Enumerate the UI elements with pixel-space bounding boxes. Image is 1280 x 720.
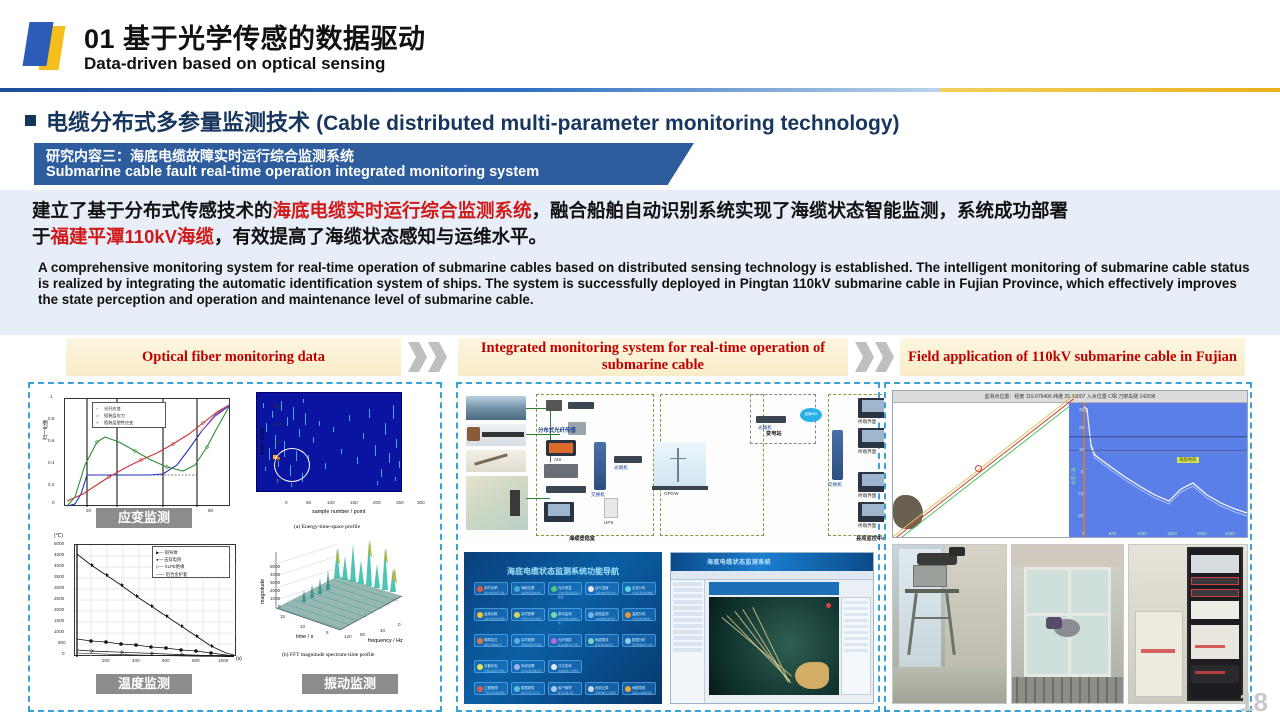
temp-xtick-400: 400 [132,658,140,663]
field-monitoring-window: 监测点位置：经度 119.676406 纬度 25.43007 入水位置 C相 … [892,390,1248,538]
topology-zone-label-center: 县局监控中心 [856,535,887,542]
tile-icon-12 [551,638,557,644]
viewer-info-panel [841,597,871,695]
temp-xtick-200: 200 [102,658,110,663]
dashboard-tile-19[interactable]: 数据报表 报表导出与打印 [511,682,545,695]
spec-ytick-50: 50 [276,478,281,483]
tile-icon-1 [514,586,520,592]
panel-field-application: 监测点位置：经度 119.676406 纬度 25.43007 入水位置 C相 … [884,382,1252,712]
fft-ztick-1000: 1000 [270,596,280,601]
tile-title-9: 温度分布 [632,611,646,616]
dashboard-tile-3[interactable]: 运行温度 海缆本体温度分布 [585,582,619,595]
tile-icon-13 [588,638,594,644]
tile-icon-7 [551,612,557,618]
dashboard-tile-20[interactable]: 用户管理 账号权限分配 [548,682,582,695]
topology-optical-terminal-1 [614,456,642,463]
topology-zone-label-landing: 海缆登陆室 [569,535,595,542]
depth-ytick-0: 0 [1081,469,1083,474]
flow-banner-field-application: Field application of 110kV submarine cab… [900,338,1245,376]
viewer-tree-item[interactable] [673,624,702,628]
tile-title-16: 系统设置 [521,663,535,668]
temp-ytick-2500: 2500 [54,596,64,601]
dashboard-tile-9[interactable]: 温度分布 全线温度场曲线 [622,608,656,621]
topology-cloud-mis: 省局MIS [800,408,822,422]
field-photo-monitoring-camera [892,544,1007,704]
tile-icon-11 [514,638,520,644]
fft-ytick-10: 10 [300,624,305,629]
satellite-cable-route-image [893,403,1069,537]
viewer-tree-item[interactable] [673,594,702,598]
viewer-tree-item[interactable] [673,600,702,604]
topology-switch-1 [594,442,606,490]
viewer-tree-item[interactable] [673,636,702,640]
fft-ztick-2000: 2000 [270,588,280,593]
tile-title-0: 实时功率 [484,585,498,590]
tile-title-17: 日志查询 [558,663,572,668]
caption-strain-monitoring: 应变监测 [96,508,192,528]
depth-ytick-m20: -20 [1077,513,1083,518]
depth-xtick-2000: 2000 [1197,531,1207,536]
spec-xlabel: sample number / point [312,509,365,515]
temp-ytick-5000: 5000 [54,541,64,546]
tile-sub-2: 分布式温度场实时曲线 [558,591,581,599]
tile-icon-8 [588,612,594,618]
viewer-title-bar: 海底电缆状态监测系统 [671,553,873,571]
tile-sub-17: 系统操作日志检索 [558,669,579,673]
strain-legend-item-2: 铠装层塑性应变 [104,420,133,425]
depth-xtick-0: 0 [1082,531,1084,536]
monitoring-viewer-window[interactable]: 海底电缆状态监测系统 [670,552,874,704]
topology-link-3 [526,498,550,499]
tile-icon-22 [625,686,631,692]
dashboard-tile-12[interactable]: 光纤测振 振动频谱实时分析 [548,634,582,647]
dashboard-tile-16[interactable]: 系统设置 用户权限参数设置 [511,660,545,673]
tile-sub-4: 全线应变监测数据 [632,591,653,595]
topology-dts-unit [546,440,576,456]
spec-xtick-50: 50 [306,500,311,505]
body-text-en: A comprehensive monitoring system for re… [38,260,1253,307]
spec-xtick-150: 150 [350,500,358,505]
tile-icon-6 [514,612,520,618]
tile-sub-8: AIS船舶轨迹监测 [595,617,615,621]
tile-icon-17 [551,664,557,670]
tile-title-1: 海缆位置 [521,585,535,590]
dashboard-title: 海底电缆状态监测系统功能导航 [464,566,662,577]
body-cn-highlight1: 海底电缆实时运行综合监测系统 [273,200,532,221]
tile-icon-18 [477,686,483,692]
topology-zone-label-substation: 变电站 [766,430,782,437]
tile-icon-3 [588,586,594,592]
spec-subcaption: (a) Energy-time-space profile [294,524,360,530]
temp-ytick-4000: 4000 [54,563,64,568]
depth-ytick-20: 20 [1079,425,1084,430]
tile-sub-16: 用户权限参数设置 [521,669,542,673]
tile-sub-12: 振动频谱实时分析 [558,643,579,647]
tile-title-19: 数据报表 [521,685,535,690]
section-bullet-icon [25,115,36,126]
tile-sub-6: 告警信息实时推送 [521,617,542,621]
tile-icon-0 [477,586,483,592]
topology-workstation-1 [544,464,578,478]
tile-title-6: 实时报警 [521,611,535,616]
viewer-tree-sidebar[interactable] [671,580,705,703]
system-topology-diagram: 分布式光纤传感 AIS 交换机 UPS 光端机 海缆登陆室 OPGW 光端机 变… [464,390,874,542]
spec-ytick-150: 150 [273,440,281,445]
chart-strain-monitoring: ○光纤应变 ◇铠装层应力 +铠装层塑性应变 1 0.8 0.6 0.4 0.2 … [40,392,240,527]
fft-ytick-5: 5 [326,630,329,635]
fft-ylabel: time / s [296,634,313,640]
depth-chart-tag: 海底地形 [1177,457,1199,463]
strain-ytick-1: 1 [50,394,53,399]
topology-label-ais: AIS [554,457,561,462]
tile-title-5: 运维台账 [484,611,498,616]
dashboard-tile-14[interactable]: 数据分析 历史数据统计分析 [622,634,656,647]
tile-icon-20 [551,686,557,692]
tile-sub-22: 海缆GIS地图浏览 [632,691,652,695]
tile-title-7: 振动监测 [558,611,572,616]
topology-opgw-image [654,442,706,488]
monitoring-point-marker [975,465,982,472]
fft-subcaption: (b) FFT magnitude spectrum-time profile [282,652,375,658]
tile-sub-19: 报表导出与打印 [521,691,539,695]
fft-ztick-0: 0 [278,604,281,609]
dashboard-tile-11[interactable]: 实时视频 现场视频监控画面 [511,634,545,647]
tile-icon-16 [514,664,520,670]
viewer-menu-bar[interactable] [671,571,873,580]
tile-title-21: 巡检记录 [595,685,609,690]
tile-icon-14 [625,638,631,644]
topology-label-switch-1: 交换机 [591,492,605,498]
fft-ytick-15: 15 [280,614,285,619]
temp-ytick-1000: 1000 [54,629,64,634]
tile-title-20: 用户管理 [558,685,572,690]
research-topic-ribbon: 研究内容三：海底电缆故障实时运行综合监测系统 Submarine cable f… [34,143,694,185]
tile-title-8: 船舶监测 [595,611,609,616]
topology-label-terminal-4: 终端界面 [858,523,876,529]
topology-opgw-bar [652,486,708,490]
topology-label-switch-2: 交换机 [828,482,842,488]
temp-legend-item-1: 击穿电阻 [164,557,181,562]
viewer-tree-item[interactable] [673,582,702,586]
description-band: 建立了基于分布式传感技术的海底电缆实时运行综合监测系统，融合船舶自动识别系统实现… [0,190,1280,335]
tile-title-3: 运行温度 [595,585,609,590]
flow-banner-optical-fiber-data: Optical fiber monitoring data [66,338,401,376]
topology-label-opgw: OPGW [664,491,679,496]
ribbon-label-en: Submarine cable fault real-time operatio… [46,164,539,180]
spec-ylabel: time / 0.02s [260,428,266,454]
topology-camera-device [546,400,562,411]
topology-monitor-1 [544,502,574,522]
tile-title-14: 数据分析 [632,637,646,642]
temp-ytick-500: 500 [58,640,66,645]
section-title: 电缆分布式多参量监测技术 (Cable distributed multi-pa… [46,105,900,137]
temp-ytick-0: 0 [62,651,65,656]
dashboard-tile-8[interactable]: 船舶监测 AIS船舶轨迹监测 [585,608,619,621]
dashboard-tile-7[interactable]: 振动监测 分布式振动事件识别 [548,608,582,621]
fft-zlabel: magnitude [260,579,266,604]
topology-label-terminal-2: 终端界面 [858,449,876,455]
spec-ytick-200: 200 [273,422,281,427]
topology-label-ups: UPS [604,520,613,525]
strain-ytick-02: 0.2 [48,482,54,487]
dashboard-tile-21[interactable]: 巡检记录 现场巡检记录管理 [585,682,619,695]
depth-profile-svg [1069,403,1248,538]
section-title-en: (Cable distributed multi-parameter monit… [316,112,899,135]
spec-xtick-250: 250 [396,500,404,505]
tile-icon-19 [514,686,520,692]
depth-ytick-m10: -10 [1077,491,1083,496]
tile-title-13: 电缆载流 [595,637,609,642]
strain-ytick-0: 0 [52,500,55,505]
viewer-tree-item[interactable] [673,642,702,646]
depth-xtick-500: 500 [1109,531,1116,536]
topology-label-distributed-sensing: 分布式光纤传感 [538,426,576,434]
header-rule-blue [0,88,940,92]
topology-ups [604,498,618,518]
fft-xtick-40: 40 [380,628,385,633]
spectrogram-highlight-circle [274,448,310,482]
fft-xtick-0: 0 [398,622,401,627]
panel-integrated-system: 分布式光纤传感 AIS 交换机 UPS 光端机 海缆登陆室 OPGW 光端机 变… [456,382,880,712]
fft-xtick-80: 80 [360,632,365,637]
tile-title-22: 地图导航 [632,685,646,690]
dashboard-tile-13[interactable]: 电缆载流 载流量动态评估 [585,634,619,647]
viewer-tree-item[interactable] [673,588,702,592]
viewer-tree-item[interactable] [673,630,702,634]
temp-xtick-600: 600 [162,658,170,663]
topology-optical-terminal-2 [756,416,786,423]
dashboard-tile-17[interactable]: 日志查询 系统操作日志检索 [548,660,582,673]
topology-server-1 [568,402,594,409]
fft-plot-area [256,534,402,638]
cable-route-line-yellow [892,393,1076,538]
tile-sub-1: 海缆敷设路由坐标 [521,591,542,595]
logo-icon [20,20,74,72]
topology-sensor-photo [466,450,526,472]
tile-icon-5 [477,612,483,618]
temp-legend-item-3: 铝合金护套 [166,572,187,577]
viewer-tree-item[interactable] [673,606,702,610]
fft-xlabel: frequency / Hz [368,638,403,644]
topology-label-terminal-3: 终端界面 [858,493,876,499]
spec-xtick-300: 300 [417,500,425,505]
page-number: 18 [1239,687,1268,718]
temp-ytick-4500: 4500 [54,552,64,557]
depth-ytick-10: 10 [1079,447,1084,452]
temp-xunit: (s) [236,656,242,662]
strain-legend: ○光纤应变 ◇铠装层应力 +铠装层塑性应变 [92,402,166,428]
viewer-tree-item[interactable] [673,612,702,616]
spec-xtick-100: 100 [327,500,335,505]
depth-xtick-1000: 1000 [1137,531,1147,536]
dashboard-tile-22[interactable]: 地图导航 海缆GIS地图浏览 [622,682,656,695]
header-rule-gold [940,88,1280,92]
temp-xtick-800: 800 [192,658,200,663]
depth-chart-ylabel: 水深 / 米 [1071,467,1077,485]
tile-sub-14: 历史数据统计分析 [632,643,653,647]
tile-sub-9: 全线温度场曲线 [632,617,650,621]
topology-label-optical-terminal-1: 光端机 [614,465,628,471]
temp-legend-item-2: XLPE绝缘 [165,564,185,569]
viewer-chart-map[interactable] [709,597,839,695]
topology-gis-map-photo [466,476,528,530]
tile-title-12: 光纤测振 [558,637,572,642]
ribbon-label-cn: 研究内容三：海底电缆故障实时运行综合监测系统 [46,146,354,166]
dashboard-tile-1[interactable]: 海缆位置 海缆敷设路由坐标 [511,582,545,595]
body-cn-seg2: ，融合船舶自动识别系统实现了海缆状态智能监测，系统成功部署 [532,200,1069,221]
tile-sub-5: 设备台账资料管理 [484,617,505,621]
caption-temperature-monitoring: 温度监测 [96,674,192,694]
tile-sub-18: 工程项目资料管理 [484,691,505,695]
tile-icon-21 [588,686,594,692]
tile-title-11: 实时视频 [521,637,535,642]
tile-icon-15 [477,664,483,670]
temp-ytick-1500: 1500 [54,618,64,623]
tile-sub-15: 监测设备运行状态 [484,669,505,673]
tile-sub-20: 账号权限分配 [558,691,574,695]
tile-title-4: 应变分布 [632,585,646,590]
chart-fft-magnitude-spectrum: 5000 4000 3000 2000 1000 0 15 10 5 120 8… [256,534,438,686]
dashboard-tile-4[interactable]: 应变分布 全线应变监测数据 [622,582,656,595]
slide-header: 01 基于光学传感的数据驱动 Data-driven based on opti… [0,0,1280,90]
body-text-cn: 建立了基于分布式传感技术的海底电缆实时运行综合监测系统，融合船舶自动识别系统实现… [32,198,1257,250]
topology-label-terminal-1: 终端界面 [858,419,876,425]
tile-icon-4 [625,586,631,592]
tile-title-18: 工程管理 [484,685,498,690]
topology-server-2 [546,486,586,493]
temp-legend-item-0: 铜导体 [165,550,178,555]
temperature-legend: ▶— 铜导体 ●— 击穿电阻 ▷— XLPE绝缘 —— 铝合金护套 [152,546,230,578]
dashboard-tile-0[interactable]: 实时功率 输出电流电压功率 [474,582,508,595]
fft-ztick-4000: 4000 [270,572,280,577]
temp-ytick-3500: 3500 [54,574,64,579]
dashboard-tile-6[interactable]: 实时报警 告警信息实时推送 [511,608,545,621]
chevron-right-icon-2 [855,339,901,375]
tile-sub-21: 现场巡检记录管理 [595,691,616,695]
tile-icon-9 [625,612,631,618]
viewer-brand-label: 海底电缆状态监测系统 [707,557,771,566]
panel-optical-fiber-data: ○光纤应变 ◇铠装层应力 +铠装层塑性应变 1 0.8 0.6 0.4 0.2 … [28,382,442,712]
topology-cable-sample-photo [466,424,526,446]
tile-icon-2 [551,586,557,592]
fft-xtick-120: 120 [344,634,352,639]
dashboard-tile-15[interactable]: 设备状态 监测设备运行状态 [474,660,508,673]
strain-xtick-20: 20 [86,508,91,513]
fft-svg [256,534,402,638]
viewer-tree-item[interactable] [673,618,702,622]
body-cn-seg4: ，有效提高了海缆状态感知与运维水平。 [214,226,547,247]
tile-sub-0: 输出电流电压功率 [484,591,505,595]
seabed-depth-chart: 水深 / 米 海底地形 30 20 10 0 -10 -20 0 500 100… [1069,403,1247,537]
body-cn-seg1: 建立了基于分布式传感技术的 [32,200,273,221]
spec-xtick-0: 0 [285,500,288,505]
dashboard-function-navigation[interactable]: 海底电缆状态监测系统功能导航 实时功率 输出电流电压功率 海缆位置 海缆敷设路由… [464,552,662,704]
strain-legend-item-1: 铠装层应力 [104,413,125,418]
dashboard-tile-10[interactable]: 故障定位 故障点精确定位 [474,634,508,647]
tile-title-2: 光纤测温 [558,585,572,590]
viewer-tree-item[interactable] [673,648,702,652]
dashboard-tile-2[interactable]: 光纤测温 分布式温度场实时曲线 [548,582,582,595]
caption-vibration-monitoring: 振动监测 [302,674,398,694]
dashboard-tile-5[interactable]: 运维台账 设备台账资料管理 [474,608,508,621]
strain-ylabel: 归一化值 [42,420,49,440]
flow-banner-integrated-system: Integrated monitoring system for real-ti… [458,338,848,376]
slide-title-cn: 01 基于光学传感的数据驱动 [84,17,426,56]
tile-title-15: 设备状态 [484,663,498,668]
temp-ytick-2000: 2000 [54,607,64,612]
chevron-right-icon-1 [408,339,454,375]
dashboard-tile-18[interactable]: 工程管理 工程项目资料管理 [474,682,508,695]
slide-title-en: Data-driven based on optical sensing [84,54,385,74]
tile-sub-7: 分布式振动事件识别 [558,617,581,625]
tile-icon-10 [477,638,483,644]
temp-ytick-3000: 3000 [54,585,64,590]
tile-sub-13: 载流量动态评估 [595,643,613,647]
fft-ztick-5000: 5000 [270,564,280,569]
body-cn-seg3: 于 [32,226,51,247]
tile-sub-3: 海缆本体温度分布 [595,591,616,595]
strain-xtick-80: 80 [208,508,213,513]
chart-temperature-monitoring: (℃) [40,532,250,684]
spec-ytick-250: 250 [273,404,281,409]
field-photo-equipment-cabinet [1128,544,1248,704]
section-title-cn: 电缆分布式多参量监测技术 [46,110,310,135]
tile-sub-10: 故障点精确定位 [484,643,502,647]
depth-xtick-1500: 1500 [1167,531,1177,536]
depth-ytick-30: 30 [1079,407,1084,412]
spec-xtick-200: 200 [373,500,381,505]
chart-energy-time-space: 250 200 150 100 50 0 50 100 150 200 250 … [256,392,438,542]
depth-xtick-2500: 2500 [1225,531,1235,536]
field-photo-window-installation [1011,544,1124,704]
temp-yunit: (℃) [54,533,63,539]
tile-sub-11: 现场视频监控画面 [521,643,542,647]
viewer-toolbar[interactable] [709,582,839,595]
topology-sea-photo [466,396,526,420]
tile-title-10: 故障定位 [484,637,498,642]
strain-legend-item-0: 光纤应变 [104,406,121,411]
body-cn-highlight2: 福建平潭110kV海缆 [51,226,214,247]
topology-link-2 [526,434,560,435]
strain-ytick-04: 0.4 [48,460,54,465]
spec-ytick-100: 100 [273,458,281,463]
temp-xtick-1000: 1000 [218,658,228,663]
fft-ztick-3000: 3000 [270,580,280,585]
